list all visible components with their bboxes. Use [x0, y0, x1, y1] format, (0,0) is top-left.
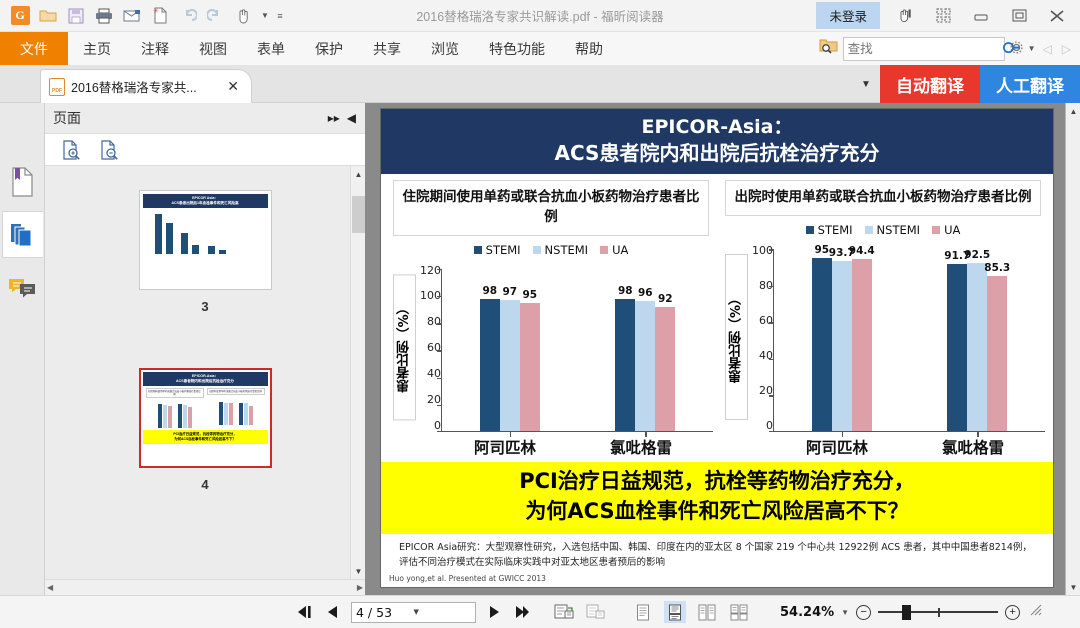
legend-item-ua: UA — [600, 243, 628, 257]
legend-item-stemi: STEMI — [806, 223, 853, 237]
chart-left-yticks: 120 100 80 60 40 20 0 — [417, 260, 441, 450]
zoom-in-button[interactable]: + — [1005, 605, 1020, 620]
scroll-up-icon[interactable]: ▲ — [351, 166, 365, 182]
chart-right-yticks: 100 80 60 40 20 0 — [749, 240, 773, 450]
navigation-rail — [0, 103, 45, 595]
email-icon[interactable] — [119, 4, 145, 28]
menu-item-protect[interactable]: 保护 — [300, 32, 358, 65]
collapse-panel-icon[interactable]: ◀ — [347, 111, 356, 125]
chart-left-legend: STEMI NSTEMI UA — [389, 243, 713, 257]
thumbnail-list: EPICOR Asia： ACS患者出院后1年血栓事件和死亡风险高 — [45, 166, 365, 579]
bar-stemi: 95 — [812, 258, 832, 432]
ribbon-toggle-icon[interactable] — [886, 1, 924, 31]
banner-line1: PCI治疗日益规范，抗栓等药物治疗充分， — [385, 467, 1049, 497]
menu-item-view[interactable]: 视图 — [184, 32, 242, 65]
pages-panel-header: 页面 ▸▸ ◀ — [45, 103, 365, 133]
chart-left-group-clopidogrel: 98 96 92 — [578, 269, 714, 432]
hscroll-right-icon[interactable]: ▶ — [357, 583, 363, 592]
pages-panel: 页面 ▸▸ ◀ EPICOR Asia： ACS患者出 — [45, 103, 365, 595]
thumbnail-page-3[interactable]: EPICOR Asia： ACS患者出院后1年血栓事件和死亡风险高 — [139, 190, 272, 290]
document-viewport[interactable]: EPICOR-Asia： ACS患者院内和出院后抗栓治疗充分 住院期间使用单药或… — [365, 103, 1080, 595]
chart-right-legend: STEMI NSTEMI UA — [721, 223, 1045, 237]
app-logo-icon[interactable]: G — [7, 4, 33, 28]
svg-text:✳: ✳ — [153, 7, 159, 15]
zoom-slider-midpoint — [938, 608, 940, 617]
zoom-level-value: 54.24% — [780, 605, 834, 620]
chart-left-title: 住院期间使用单药或联合抗血小板药物治疗患者比例 — [393, 180, 709, 235]
login-status-badge[interactable]: 未登录 — [816, 2, 880, 29]
menu-item-home[interactable]: 主页 — [68, 32, 126, 65]
thumbnail-item[interactable]: EPICOR Asia： ACS患者出院后1年血栓事件和死亡风险高 — [139, 190, 272, 314]
view-mode-group — [553, 601, 607, 623]
slide-title-line1: EPICOR-Asia： — [385, 115, 1049, 140]
scroll-down-icon[interactable]: ▼ — [351, 563, 365, 579]
pdf-file-icon: PDF — [49, 78, 65, 96]
menu-item-form[interactable]: 表单 — [242, 32, 300, 65]
slide-source: Huo yong,et al. Presented at GWICC 2013 — [381, 572, 1053, 587]
pdf-page: EPICOR-Asia： ACS患者院内和出院后抗栓治疗充分 住院期间使用单药或… — [380, 108, 1054, 588]
menu-item-browse[interactable]: 浏览 — [416, 32, 474, 65]
bar-ua: 94.4 — [852, 259, 872, 432]
document-tab-strip: PDF 2016替格瑞洛专家共... ✕ ▼ 自动翻译 人工翻译 — [0, 65, 1080, 103]
xlabel-aspirin: 阿司匹林 — [769, 436, 905, 458]
save-icon[interactable] — [63, 4, 89, 28]
first-page-icon[interactable] — [297, 605, 314, 619]
zoom-group: 54.24% ▼ − + — [780, 603, 1043, 622]
restore-layout-icon[interactable] — [924, 1, 962, 31]
document-scrollbar[interactable]: ▲ ▼ — [1065, 103, 1080, 595]
thumb-chart-left: 住院期间使用单药或联合抗血小板药物治疗患者比例 — [146, 388, 204, 429]
open-icon[interactable] — [35, 4, 61, 28]
chart-left-ylabel: 患者比例（%） — [393, 274, 416, 420]
search-input[interactable] — [848, 41, 1004, 56]
document-tab[interactable]: PDF 2016替格瑞洛专家共... ✕ — [40, 69, 252, 103]
translate-group: ▼ 自动翻译 人工翻译 — [852, 65, 1080, 103]
close-icon[interactable] — [1038, 1, 1076, 31]
page-number-value: 4 / 53 — [356, 605, 414, 620]
hand-tool-icon[interactable] — [231, 4, 257, 28]
thumb-bar-chart — [146, 210, 265, 254]
legend-item-stemi: STEMI — [474, 243, 521, 257]
bar-nstemi: 97 — [500, 300, 520, 432]
thumb-title: EPICOR Asia： ACS患者出院后1年血栓事件和死亡风险高 — [143, 194, 268, 208]
chart-left-xlabels: 阿司匹林 氯吡格雷 — [437, 436, 709, 458]
next-search-icon[interactable]: ▷ — [1059, 42, 1074, 56]
single-page-icon[interactable] — [632, 601, 654, 623]
thumbnail-zoom-in-icon[interactable] — [61, 140, 81, 160]
hscroll-left-icon[interactable]: ◀ — [47, 583, 53, 592]
auto-translate-button[interactable]: 自动翻译 — [880, 65, 980, 103]
page-number-input[interactable]: 4 / 53 ▼ — [351, 602, 476, 623]
thumbnail-hscrollbar[interactable]: ◀ ▶ — [45, 579, 365, 595]
bar-stemi: 98 — [615, 299, 635, 433]
menu-item-file[interactable]: 文件 — [0, 32, 68, 65]
slide-banner: PCI治疗日益规范，抗栓等药物治疗充分， 为何ACS血栓事件和死亡风险居高不下？ — [381, 462, 1053, 534]
foxit-reader-window: G ✳ ▼ — [0, 0, 1080, 628]
thumbnail-preview: EPICOR-Asia： ACS患者院内和出院后抗栓治疗充分 住院期间使用单药或… — [143, 372, 268, 464]
bar-nstemi: 93.7 — [832, 261, 852, 432]
bar-ua: 85.3 — [987, 276, 1007, 432]
thumbnail-number: 3 — [201, 299, 208, 314]
chevron-down-icon[interactable]: ▼ — [1028, 44, 1036, 53]
chart-right-plot: 95 93.7 94.4 91.7 92.5 85.3 — [773, 249, 1045, 432]
chart-right-ylabel: 患者比例（%） — [725, 254, 748, 420]
human-translate-button[interactable]: 人工翻译 — [980, 65, 1080, 103]
zoom-slider[interactable] — [878, 605, 998, 619]
charts-row: 住院期间使用单药或联合抗血小板药物治疗患者比例 STEMI NSTEMI UA … — [381, 174, 1053, 458]
menu-item-features[interactable]: 特色功能 — [474, 32, 560, 65]
maximize-icon[interactable] — [1000, 1, 1038, 31]
bar-ua: 95 — [520, 303, 540, 432]
xlabel-clopidogrel: 氯吡格雷 — [905, 436, 1041, 458]
titlebar-right-group: 未登录 — [816, 1, 1080, 31]
hand-tool-dropdown-caret[interactable]: ▼ — [259, 4, 271, 28]
slide-title: EPICOR-Asia： ACS患者院内和出院后抗栓治疗充分 — [381, 109, 1053, 174]
continuous-facing-icon[interactable] — [728, 601, 750, 623]
expand-panel-icon[interactable]: ▸▸ — [328, 111, 340, 125]
xlabel-aspirin: 阿司匹林 — [437, 436, 573, 458]
zoom-slider-handle[interactable] — [902, 605, 911, 620]
thumb-body — [143, 208, 268, 263]
sidebar-item-pages[interactable] — [2, 211, 43, 258]
fit-width-icon[interactable] — [585, 601, 607, 623]
menu-item-comment[interactable]: 注释 — [126, 32, 184, 65]
thumbnail-page-4[interactable]: EPICOR-Asia： ACS患者院内和出院后抗栓治疗充分 住院期间使用单药或… — [139, 368, 272, 468]
thumbnail-zoom-out-icon[interactable] — [99, 140, 119, 160]
bar-nstemi: 96 — [635, 301, 655, 432]
slide-title-line2: ACS患者院内和出院后抗栓治疗充分 — [385, 140, 1049, 166]
tab-overflow-caret-icon[interactable]: ▼ — [852, 65, 880, 103]
close-tab-icon[interactable]: ✕ — [223, 78, 243, 95]
find-input-container[interactable] — [843, 37, 1005, 61]
banner-line2: 为何ACS血栓事件和死亡风险居高不下？ — [385, 497, 1049, 527]
thumb-chart-right: 出院时使用单药或联合抗血小板药物治疗患者比例 — [207, 388, 265, 429]
previous-search-icon[interactable]: ◁ — [1040, 42, 1055, 56]
page-layout-group — [632, 601, 750, 623]
zoom-dropdown-caret-icon[interactable]: ▼ — [841, 608, 849, 617]
chart-right-xlabels: 阿司匹林 氯吡格雷 — [769, 436, 1041, 458]
chart-left-plot-area: 患者比例（%） 120 100 80 60 40 20 0 — [389, 260, 713, 450]
last-page-icon[interactable] — [513, 605, 530, 619]
undo-icon[interactable] — [175, 4, 201, 28]
thumb-title: EPICOR-Asia： ACS患者院内和出院后抗栓治疗充分 — [143, 372, 268, 386]
new-page-icon[interactable]: ✳ — [147, 4, 173, 28]
document-scroll-down-icon[interactable]: ▼ — [1066, 579, 1080, 595]
fit-page-icon[interactable] — [553, 601, 575, 623]
menu-item-share[interactable]: 共享 — [358, 32, 416, 65]
previous-page-icon[interactable] — [327, 605, 338, 619]
legend-item-ua: UA — [932, 223, 960, 237]
document-tab-label: 2016替格瑞洛专家共... — [71, 77, 217, 96]
next-page-icon[interactable] — [489, 605, 500, 619]
bar-ua: 92 — [655, 307, 675, 432]
bar-stemi: 98 — [480, 299, 500, 433]
bar-nstemi: 92.5 — [967, 263, 987, 432]
thumb-caption — [146, 254, 265, 261]
pages-panel-title: 页面 — [53, 108, 81, 128]
document-scroll-up-icon[interactable]: ▲ — [1066, 103, 1080, 119]
facing-page-icon[interactable] — [696, 601, 718, 623]
sidebar-item-bookmarks[interactable] — [2, 158, 43, 205]
search-folder-icon[interactable] — [819, 37, 839, 60]
bar-stemi: 91.7 — [947, 264, 967, 432]
qat-more-caret[interactable]: ≡ — [273, 4, 287, 28]
chart-left: 住院期间使用单药或联合抗血小板药物治疗患者比例 STEMI NSTEMI UA … — [389, 180, 713, 458]
menu-right-group: ▼ ◁ ▷ — [819, 32, 1080, 65]
quick-access-toolbar: G ✳ ▼ — [0, 4, 287, 28]
slide-footnote: EPICOR Asia研究：大型观察性研究，入选包括中国、韩国、印度在内的亚太区… — [381, 534, 1053, 572]
chart-right-title: 出院时使用单药或联合抗血小板药物治疗患者比例 — [725, 180, 1041, 216]
legend-item-nstemi: NSTEMI — [533, 243, 589, 257]
page-dropdown-caret-icon[interactable]: ▼ — [414, 608, 472, 616]
thumb-charts: 住院期间使用单药或联合抗血小板药物治疗患者比例 出院时使用单药或联合抗血小板药物… — [143, 386, 268, 431]
scrollbar-thumb[interactable] — [352, 196, 365, 233]
chart-right-group-aspirin: 95 93.7 94.4 — [774, 249, 910, 432]
resize-grip-icon[interactable] — [1029, 603, 1043, 622]
chart-left-plot: 98 97 95 98 96 92 — [441, 269, 713, 432]
chart-left-group-aspirin: 98 97 95 — [442, 269, 578, 432]
page-navigation-group: 4 / 53 ▼ — [297, 602, 530, 623]
status-bar: 4 / 53 ▼ — [0, 595, 1080, 628]
thumbnail-preview: EPICOR Asia： ACS患者出院后1年血栓事件和死亡风险高 — [143, 194, 268, 286]
thumbnail-scrollbar[interactable]: ▲ ▼ — [350, 166, 365, 579]
title-bar: G ✳ ▼ — [0, 0, 1080, 32]
chart-right: 出院时使用单药或联合抗血小板药物治疗患者比例 STEMI NSTEMI UA 患… — [721, 180, 1045, 458]
thumb-banner: PCI治疗日益规范，抗栓等药物治疗充分， 为何ACS血栓事件和死亡风险居高不下？ — [143, 430, 268, 444]
minimize-icon[interactable] — [962, 1, 1000, 31]
chart-right-plot-area: 患者比例（%） 100 80 60 40 20 0 — [721, 240, 1045, 450]
pages-panel-toolbar — [45, 133, 365, 166]
zoom-out-button[interactable]: − — [856, 605, 871, 620]
xlabel-clopidogrel: 氯吡格雷 — [573, 436, 709, 458]
redo-icon[interactable] — [203, 4, 229, 28]
thumbnail-number: 4 — [201, 477, 208, 492]
thumbnail-item[interactable]: EPICOR-Asia： ACS患者院内和出院后抗栓治疗充分 住院期间使用单药或… — [139, 368, 272, 492]
menu-item-help[interactable]: 帮助 — [560, 32, 618, 65]
chart-right-group-clopidogrel: 91.7 92.5 85.3 — [910, 249, 1046, 432]
continuous-page-icon[interactable] — [664, 601, 686, 623]
menu-bar: 文件 主页 注释 视图 表单 保护 共享 浏览 特色功能 帮助 ▼ ◁ ▷ — [0, 32, 1080, 65]
thumb-footnote — [143, 444, 268, 451]
sidebar-item-comments[interactable] — [2, 264, 43, 311]
legend-item-nstemi: NSTEMI — [865, 223, 921, 237]
print-icon[interactable] — [91, 4, 117, 28]
